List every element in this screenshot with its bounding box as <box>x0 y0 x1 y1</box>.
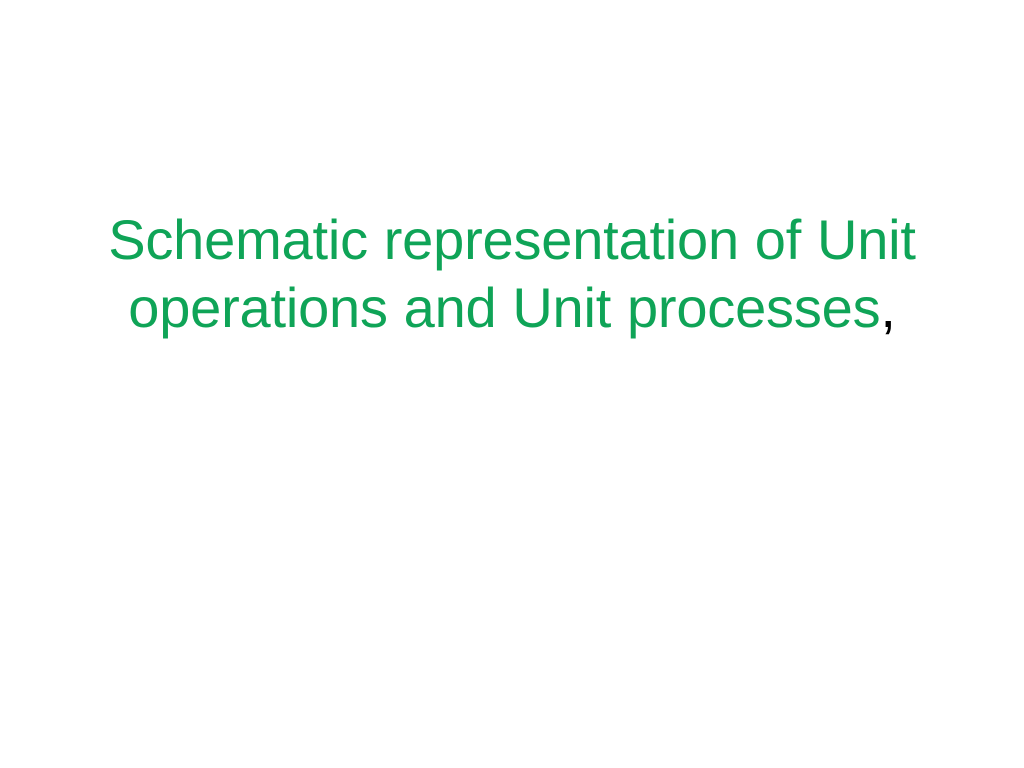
page-title: Schematic representation of Unit operati… <box>84 206 940 342</box>
title-green-run: Schematic representation of Unit operati… <box>108 208 916 339</box>
slide-title-placeholder[interactable]: Schematic representation of Unit operati… <box>84 206 940 342</box>
slide-canvas: Schematic representation of Unit operati… <box>0 0 1024 768</box>
slide-body-placeholder[interactable] <box>84 392 940 692</box>
title-trailing-comma: , <box>880 276 895 339</box>
